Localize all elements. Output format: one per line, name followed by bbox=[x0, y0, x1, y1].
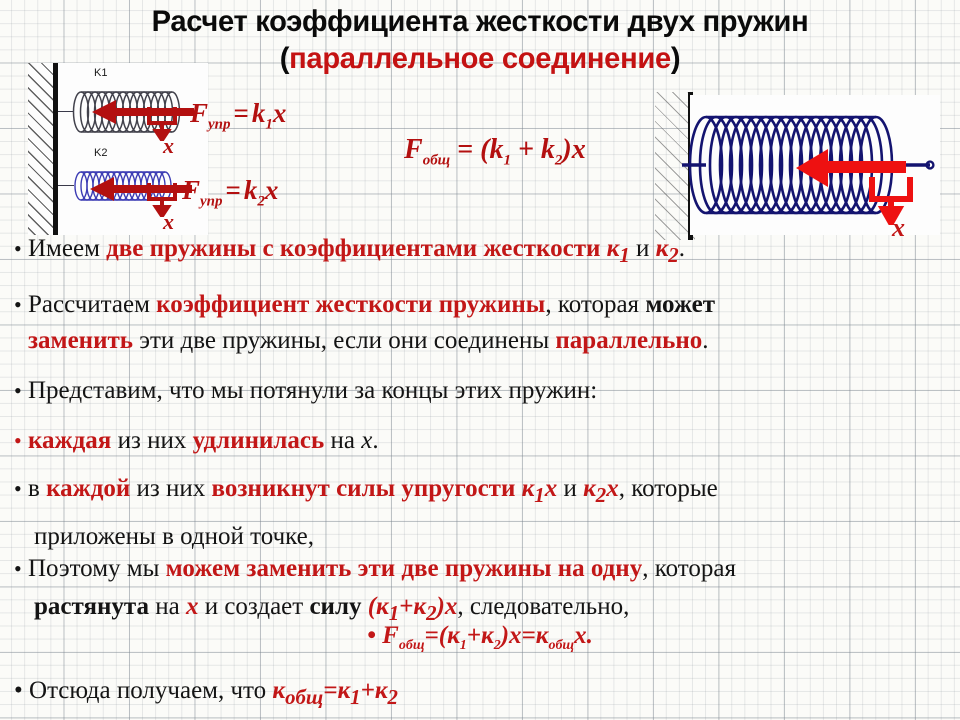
formula-operator: =( bbox=[425, 622, 448, 649]
bullet-text: каждая из них удлинилась на x. bbox=[0, 428, 379, 453]
text-plain: из них bbox=[130, 475, 211, 502]
subscript-red: 2 bbox=[668, 243, 678, 267]
x-label-k2: x bbox=[163, 209, 174, 235]
formula-bullet-marker: • bbox=[367, 622, 382, 649]
subscript-red: 1 bbox=[619, 243, 629, 267]
text-emphasis-red: можем заменить эти две пружины на одну bbox=[166, 555, 643, 582]
spring-k2-label: K2 bbox=[94, 147, 107, 159]
bullet-line: •Имеем две пружины с коэффициентами жест… bbox=[0, 236, 685, 268]
formula-symbol-x: x bbox=[574, 622, 587, 649]
text-plain: , следовательно, bbox=[457, 593, 629, 620]
symbol-k2: к bbox=[375, 677, 388, 704]
text-emphasis-red: каждой bbox=[46, 475, 130, 502]
symbol-kobsh: к bbox=[272, 677, 285, 704]
subscript-red: общ bbox=[285, 685, 323, 709]
formula-operator: )x= bbox=[501, 622, 536, 649]
text-emphasis-red: возникнут силы упругости bbox=[212, 475, 522, 502]
x-label-total: x bbox=[892, 213, 905, 243]
symbol-red: )x bbox=[437, 593, 458, 620]
text-plain: Отсюда получаем, что bbox=[29, 677, 272, 704]
formula-subscript: общ bbox=[548, 638, 574, 653]
text-plain: . bbox=[679, 235, 685, 262]
text-plain: . bbox=[372, 427, 378, 454]
bullet-line: •каждая из них удлинилась на x. bbox=[0, 428, 379, 453]
wall-bar bbox=[53, 63, 58, 235]
text-emphasis-bold: растянута bbox=[34, 593, 149, 620]
subscript-red: 2 bbox=[596, 483, 606, 507]
formula-spring-1: Fупр=k1x bbox=[190, 98, 286, 133]
formula-symbol-k1: к bbox=[447, 622, 460, 649]
bullet-marker: • bbox=[14, 428, 22, 453]
bullet-text: Представим, что мы потянули за концы эти… bbox=[0, 378, 597, 403]
subscript-red: 1 bbox=[350, 685, 360, 709]
bullet-text: Имеем две пружины с коэффициентами жестк… bbox=[0, 236, 685, 268]
formula-final-derived: • Fобщ=(к1+к2)x=кобщx. bbox=[0, 622, 960, 654]
text-emphasis-red: заменить bbox=[28, 327, 133, 354]
symbol-red: к bbox=[583, 475, 596, 502]
text-plain: и bbox=[630, 235, 656, 262]
operator-equals: = bbox=[323, 677, 337, 704]
formula-total-force: Fобщ = (k1 + k2)x bbox=[404, 134, 586, 170]
bullet-marker: • bbox=[14, 378, 22, 403]
symbol-red: (к bbox=[368, 593, 389, 620]
formula-symbol-F: F bbox=[382, 622, 399, 649]
text-plain: на bbox=[149, 593, 186, 620]
text-plain: Представим, что мы потянули за концы эти… bbox=[28, 377, 597, 404]
fixed-wall-left bbox=[28, 63, 58, 235]
bullet-marker: • bbox=[14, 476, 22, 501]
bullet-line: заменить эти две пружины, если они соеди… bbox=[0, 328, 708, 353]
symbol-red: x bbox=[606, 475, 619, 502]
symbol-red: x bbox=[545, 475, 558, 502]
text-plain: приложены в одной точке, bbox=[34, 523, 314, 550]
bullet-marker: • bbox=[14, 236, 22, 261]
text-plain: , которые bbox=[619, 475, 718, 502]
bullet-marker: • bbox=[14, 556, 22, 581]
bullet-marker: • bbox=[14, 292, 22, 317]
text-emphasis-bold: может bbox=[645, 291, 715, 318]
text-plain: Поэтому мы bbox=[28, 555, 166, 582]
formula-symbol-kobsh: к bbox=[536, 622, 549, 649]
bullet-marker: • bbox=[14, 677, 29, 704]
bullet-line: •Поэтому мы можем заменить эти две пружи… bbox=[0, 556, 736, 581]
bullet-text: заменить эти две пружины, если они соеди… bbox=[0, 328, 708, 353]
subscript-red: 1 bbox=[534, 483, 544, 507]
bullet-text: в каждой из них возникнут силы упругости… bbox=[0, 476, 718, 508]
bullet-line: •Представим, что мы потянули за концы эт… bbox=[0, 378, 597, 403]
text-plain: , которая bbox=[545, 291, 645, 318]
text-plain: Рассчитаем bbox=[28, 291, 156, 318]
bullet-line: •Рассчитаем коэффициент жесткости пружин… bbox=[0, 292, 715, 317]
operator-plus: + bbox=[361, 677, 375, 704]
bullet-line: приложены в одной точке, bbox=[0, 524, 314, 549]
bullet-conclusion: • Отсюда получаем, что кобщ=к1+к2 bbox=[14, 678, 398, 710]
text-plain: Имеем bbox=[28, 235, 106, 262]
formula-subscript: общ bbox=[399, 638, 425, 653]
title-line-1: Расчет коэффициента жесткости двух пружи… bbox=[14, 4, 945, 40]
text-plain: из них bbox=[111, 427, 192, 454]
text-plain: на bbox=[324, 427, 361, 454]
title-paren-open: ( bbox=[280, 42, 289, 75]
bullet-text: приложены в одной точке, bbox=[0, 524, 314, 549]
bullet-text: Рассчитаем коэффициент жесткости пружины… bbox=[0, 292, 715, 317]
title-highlight: параллельное соединение bbox=[289, 42, 671, 75]
bullet-text: Поэтому мы можем заменить эти две пружин… bbox=[0, 556, 736, 581]
text-emphasis-bold: силу bbox=[309, 593, 367, 620]
text-emphasis-red: коэффициент жесткости пружины bbox=[156, 291, 545, 318]
text-plain: и bbox=[557, 475, 583, 502]
symbol-red: к bbox=[656, 235, 669, 262]
x-label-k1: x bbox=[163, 133, 174, 159]
two-springs-diagram: K1 x K2 bbox=[28, 63, 208, 235]
symbol-red: к bbox=[607, 235, 620, 262]
text-plain: . bbox=[702, 327, 708, 354]
formula-period: . bbox=[587, 622, 593, 649]
bullet-line: •в каждой из них возникнут силы упругост… bbox=[0, 476, 718, 508]
symbol-red: +к bbox=[399, 593, 426, 620]
text-plain: эти две пружины, если они соединены bbox=[133, 327, 555, 354]
formula-subscript: 1 bbox=[460, 638, 467, 653]
equivalent-spring-diagram: x bbox=[690, 95, 940, 235]
subscript-red: 2 bbox=[388, 685, 398, 709]
formula-subscript: 2 bbox=[494, 638, 501, 653]
text-emphasis-red: параллельно bbox=[555, 327, 702, 354]
extension-bracket-total-icon bbox=[868, 177, 914, 225]
symbol-red: x bbox=[186, 593, 199, 620]
text-emphasis-red: каждая bbox=[28, 427, 111, 454]
formula-symbol-k2: к bbox=[481, 622, 494, 649]
text-emphasis-red: удлинилась bbox=[193, 427, 325, 454]
symbol-k1: к bbox=[338, 677, 351, 704]
text-emphasis-red: две пружины с коэффициентами жесткости bbox=[106, 235, 607, 262]
formula-operator: + bbox=[467, 622, 481, 649]
symbol-red: к bbox=[522, 475, 535, 502]
text-plain: и создает bbox=[198, 593, 309, 620]
spring-k1-label: K1 bbox=[94, 67, 107, 79]
text-plain: , которая bbox=[642, 555, 736, 582]
symbol-black: x bbox=[361, 427, 372, 454]
title-paren-close: ) bbox=[671, 42, 680, 75]
formula-spring-2: Fупр=k2x bbox=[182, 175, 278, 210]
text-plain: в bbox=[28, 475, 46, 502]
